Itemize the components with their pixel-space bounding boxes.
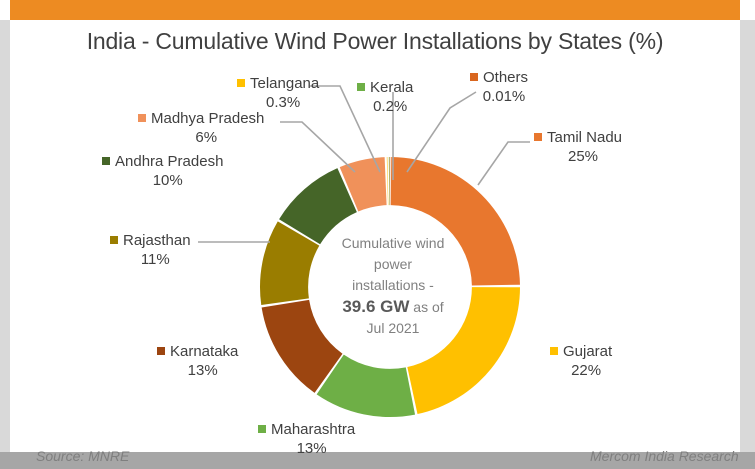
callout-karnataka-value: 13% (157, 361, 238, 380)
center-date: Jul 2021 (367, 320, 420, 336)
center-total-value: 39.6 GW (342, 297, 409, 316)
donut-slice[interactable] (390, 157, 391, 205)
callout-madhya-pradesh-value: 6% (138, 128, 264, 147)
chart-page: India - Cumulative Wind Power Installati… (0, 0, 755, 469)
source-note: Source: MNRE (36, 448, 129, 464)
top-accent-bar (10, 0, 740, 20)
donut-slice[interactable] (389, 157, 390, 205)
callout-andhra-pradesh: Andhra Pradesh 10% (102, 152, 223, 190)
callout-andhra-pradesh-label: Andhra Pradesh (115, 153, 223, 170)
swatch-tamil-nadu-icon (534, 133, 542, 141)
center-line-3: installations - (352, 277, 434, 293)
swatch-rajasthan-icon (110, 236, 118, 244)
chart-canvas: India - Cumulative Wind Power Installati… (10, 20, 740, 452)
center-asof: as of (409, 299, 443, 315)
callout-maharashtra-label: Maharashtra (271, 421, 355, 438)
center-line-1: Cumulative wind (342, 235, 445, 251)
swatch-others-icon (470, 73, 478, 81)
callout-others-label: Others (483, 69, 528, 86)
callout-maharashtra-value: 13% (258, 439, 355, 458)
callout-andhra-pradesh-value: 10% (102, 171, 223, 190)
center-line-2: power (374, 256, 412, 272)
callout-telangana-label: Telangana (250, 75, 319, 92)
callout-telangana: Telangana 0.3% (237, 74, 319, 112)
swatch-madhya-pradesh-icon (138, 114, 146, 122)
callout-kerala-label: Kerala (370, 79, 413, 96)
donut-slice[interactable] (387, 157, 389, 205)
callout-gujarat-label: Gujarat (563, 343, 612, 360)
right-edge-border (740, 20, 755, 452)
swatch-maharashtra-icon (258, 425, 266, 433)
swatch-telangana-icon (237, 79, 245, 87)
callout-gujarat: Gujarat 22% (550, 342, 612, 380)
callout-tamil-nadu-label: Tamil Nadu (547, 129, 622, 146)
callout-maharashtra: Maharashtra 13% (258, 420, 355, 458)
credit-note: Mercom India Research (590, 448, 739, 464)
swatch-gujarat-icon (550, 347, 558, 355)
callout-kerala-value: 0.2% (357, 97, 413, 116)
swatch-andhra-pradesh-icon (102, 157, 110, 165)
callout-tamil-nadu: Tamil Nadu 25% (534, 128, 622, 166)
callout-karnataka-label: Karnataka (170, 343, 238, 360)
callout-rajasthan: Rajasthan 11% (110, 231, 191, 269)
left-edge-border (0, 20, 10, 452)
callout-karnataka: Karnataka 13% (157, 342, 238, 380)
callout-tamil-nadu-value: 25% (534, 147, 622, 166)
swatch-karnataka-icon (157, 347, 165, 355)
callout-kerala: Kerala 0.2% (357, 78, 413, 116)
callout-madhya-pradesh-label: Madhya Pradesh (151, 110, 264, 127)
callout-gujarat-value: 22% (550, 361, 612, 380)
page-title: India - Cumulative Wind Power Installati… (10, 28, 740, 55)
callout-rajasthan-label: Rajasthan (123, 232, 191, 249)
callout-rajasthan-value: 11% (110, 250, 191, 269)
callout-madhya-pradesh: Madhya Pradesh 6% (138, 109, 264, 147)
callout-others-value: 0.01% (470, 87, 528, 106)
center-summary: Cumulative wind power installations - 39… (307, 233, 479, 339)
callout-others: Others 0.01% (470, 68, 528, 106)
swatch-kerala-icon (357, 83, 365, 91)
